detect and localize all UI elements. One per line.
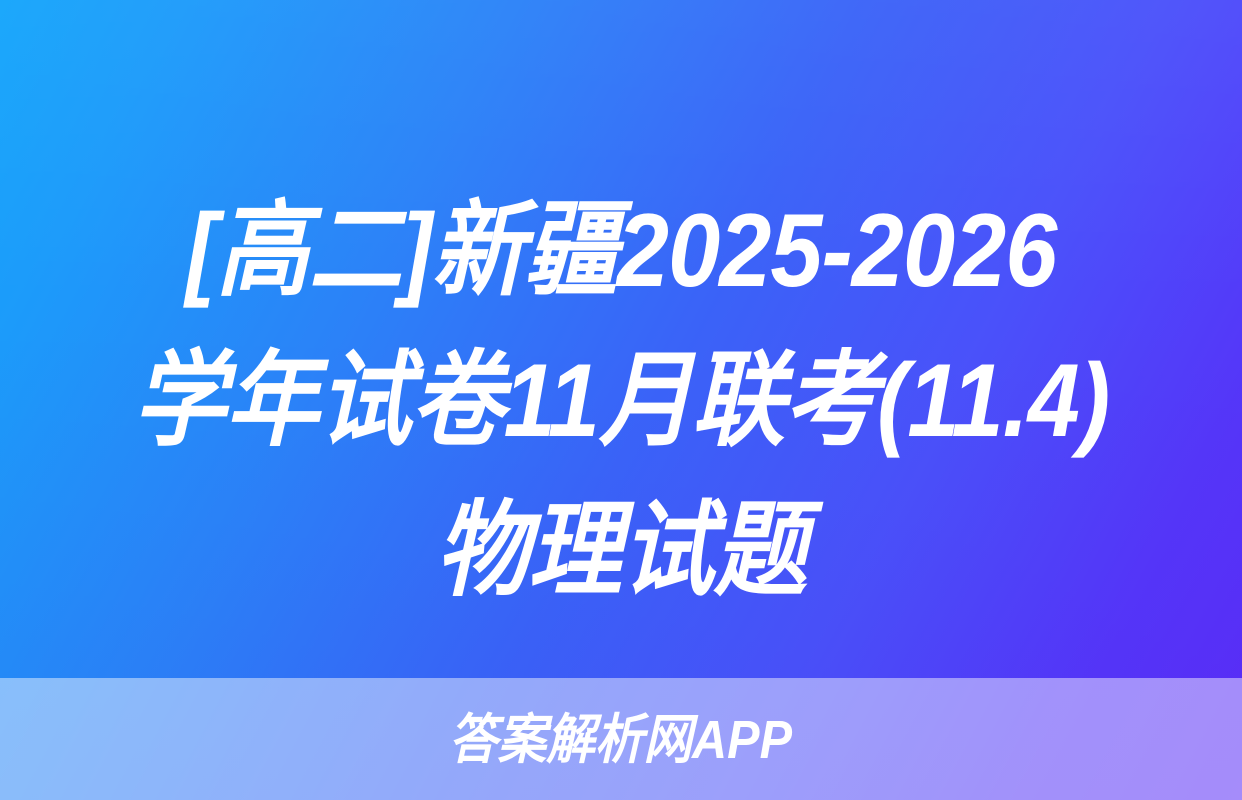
title-line-3: 物理试题 (105, 476, 1136, 626)
title-line-2: 学年试卷11月联考(11.4) (105, 326, 1136, 476)
footer-brand-band: 答案解析网APP (0, 678, 1242, 800)
exam-cover-poster: [高二]新疆2025-2026 学年试卷11月联考(11.4) 物理试题 答案解… (0, 0, 1242, 800)
title-line-1: [高二]新疆2025-2026 (105, 176, 1136, 326)
page-title: [高二]新疆2025-2026 学年试卷11月联考(11.4) 物理试题 (0, 186, 1242, 616)
footer-brand-label: 答案解析网APP (450, 713, 793, 767)
